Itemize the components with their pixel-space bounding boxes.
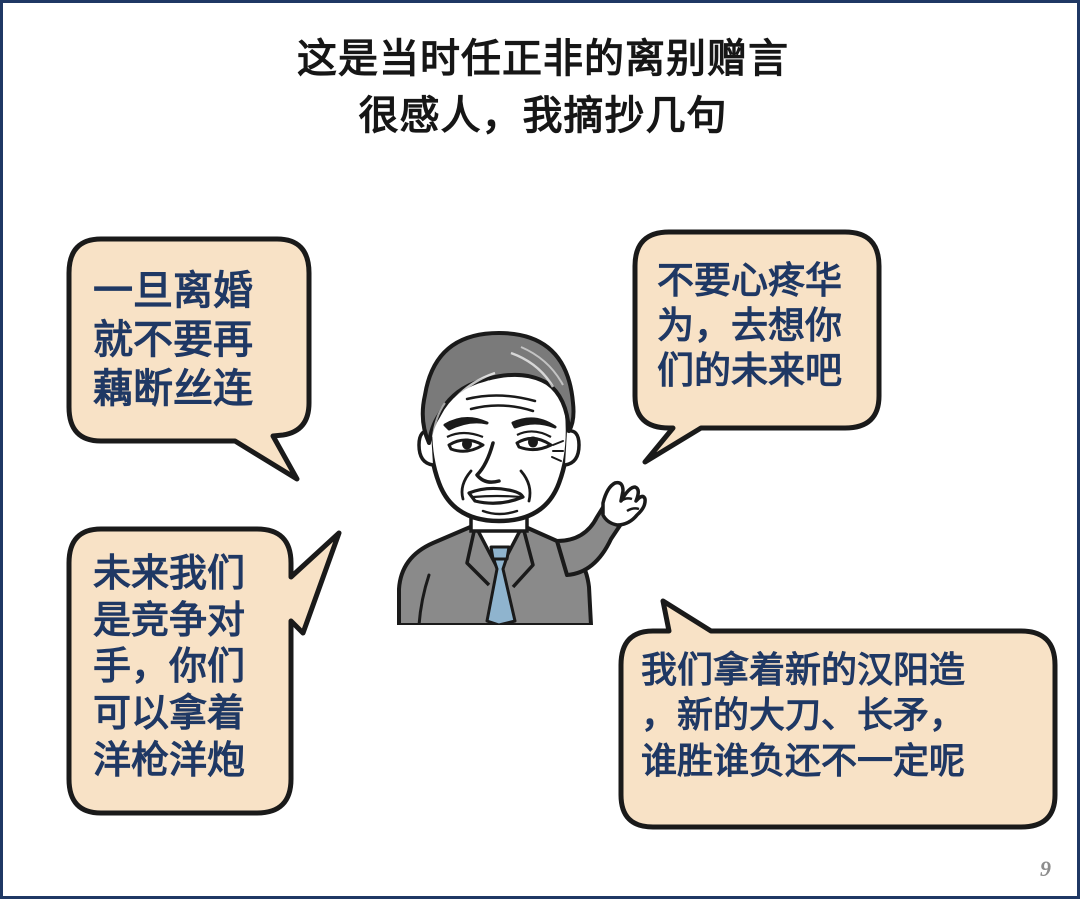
speech-bubble-future-yours: 不要心疼华 为，去想你 们的未来吧 — [631, 228, 901, 473]
speech-bubble-divorce: 一旦离婚 就不要再 藕断丝连 — [65, 235, 345, 485]
page-number: 9 — [1040, 856, 1051, 882]
title-line-2: 很感人，我摘抄几句 — [3, 88, 1080, 145]
slide-canvas: 这是当时任正非的离别赠言 很感人，我摘抄几句 一旦离婚 就不要再 藕断丝连 不要… — [0, 0, 1080, 899]
cartoon-figure-illustration — [371, 325, 647, 625]
speech-bubble-divorce-text: 一旦离婚 就不要再 藕断丝连 — [93, 267, 293, 413]
cartoon-businessman-ren-zhengfei — [371, 325, 647, 625]
speech-bubble-future-yours-text: 不要心疼华 为，去想你 们的未来吧 — [657, 258, 867, 393]
title-line-1: 这是当时任正非的离别赠言 — [3, 31, 1080, 88]
speech-bubble-hanyang-text: 我们拿着新的汉阳造 ，新的大刀、长矛， 谁胜谁负还不一定呢 — [641, 647, 1041, 783]
speech-bubble-hanyang: 我们拿着新的汉阳造 ，新的大刀、长矛， 谁胜谁负还不一定呢 — [615, 595, 1063, 840]
page-title: 这是当时任正非的离别赠言 很感人，我摘抄几句 — [3, 31, 1080, 145]
speech-bubble-competitors-text: 未来我们 是竞争对 手，你们 可以拿着 洋枪洋炮 — [93, 551, 293, 785]
mouth — [469, 488, 523, 503]
speech-bubble-competitors: 未来我们 是竞争对 手，你们 可以拿着 洋枪洋炮 — [65, 525, 355, 825]
gesturing-hand — [603, 483, 645, 525]
